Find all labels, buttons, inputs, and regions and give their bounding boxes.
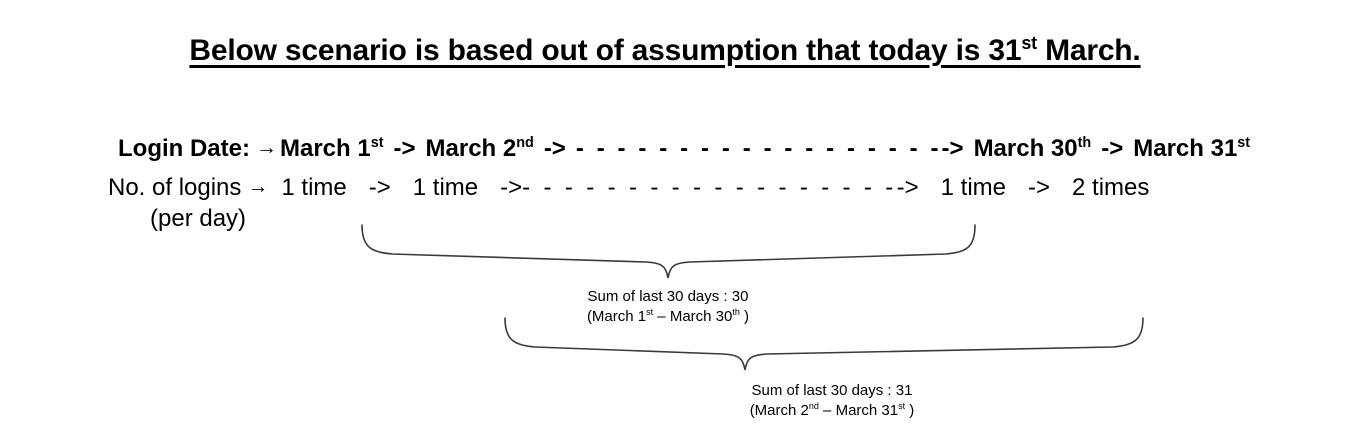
login-date-sep3: ->	[942, 135, 964, 162]
login-date-day1-ordinal: st	[371, 135, 384, 151]
slide-canvas: Below scenario is based out of assumptio…	[0, 0, 1360, 446]
login-date-day31-ordinal: st	[1237, 135, 1250, 151]
login-date-sep1: ->	[394, 135, 416, 162]
page-title-ordinal-suffix: st	[1021, 33, 1037, 53]
login-count-sublabel: (per day)	[150, 207, 246, 231]
login-date-row: Login Date:→March 1st->March 2nd->- - - …	[118, 137, 1250, 161]
login-date-day1: March 1	[280, 135, 371, 162]
login-date-day30-ordinal: th	[1078, 135, 1092, 151]
login-count-day30: 1 time	[941, 174, 1006, 201]
login-count-dashed-connector: - - - - - - - - - - - - - - - - - -	[522, 174, 896, 201]
brace-2-range-end: )	[905, 402, 914, 419]
login-count-sep3: ->	[897, 174, 919, 201]
brace-2-range-open-ordinal: nd	[809, 401, 819, 411]
page-title-underlined: Below scenario is based out of assumptio…	[189, 34, 1140, 67]
brace-2-caption-line2: (March 2nd – March 31st )	[682, 401, 982, 421]
brace-1-caption-line2: (March 1st – March 30th )	[528, 307, 808, 327]
right-arrow-icon: →	[250, 136, 280, 159]
brace-2-caption: Sum of last 30 days : 31 (March 2nd – Ma…	[682, 381, 982, 422]
login-count-sep2: ->	[500, 174, 522, 201]
login-date-day2-ordinal: nd	[516, 135, 534, 151]
brace-1-caption: Sum of last 30 days : 30 (March 1st – Ma…	[528, 287, 808, 328]
brace-2-range-open: (March 2	[750, 402, 809, 419]
login-count-day1: 1 time	[281, 174, 346, 201]
brace-1-range-open: (March 1	[587, 308, 646, 325]
login-date-day2: March 2	[426, 135, 517, 162]
login-count-row: No. of logins→1 time->1 time->- - - - - …	[108, 176, 1149, 200]
brace-1-caption-line1: Sum of last 30 days : 30	[588, 288, 749, 305]
page-title: Below scenario is based out of assumptio…	[0, 34, 1330, 68]
brace-1	[362, 225, 975, 278]
login-count-sep1: ->	[369, 174, 391, 201]
login-count-day31: 2 times	[1072, 174, 1149, 201]
login-date-label: Login Date:	[118, 135, 250, 162]
login-date-sep2: ->	[544, 135, 566, 162]
brace-1-range-dash: – March 30	[653, 308, 732, 325]
login-count-label: No. of logins	[108, 174, 241, 201]
login-count-day2: 1 time	[413, 174, 478, 201]
brace-1-range-end: )	[740, 308, 749, 325]
page-title-suffix: March.	[1037, 34, 1141, 67]
login-date-dashed-connector: - - - - - - - - - - - - - - - - - -	[576, 135, 942, 162]
page-title-prefix: Below scenario is based out of assumptio…	[189, 34, 1021, 67]
login-date-day30: March 30	[974, 135, 1078, 162]
brace-1-range-close-ordinal: th	[732, 307, 740, 317]
right-arrow-icon: →	[241, 175, 271, 198]
brace-2-caption-line1: Sum of last 30 days : 31	[752, 382, 913, 399]
login-count-sep4: ->	[1028, 174, 1050, 201]
login-date-sep4: ->	[1101, 135, 1123, 162]
brace-2-range-dash: – March 31	[819, 402, 898, 419]
login-date-day31: March 31	[1133, 135, 1237, 162]
